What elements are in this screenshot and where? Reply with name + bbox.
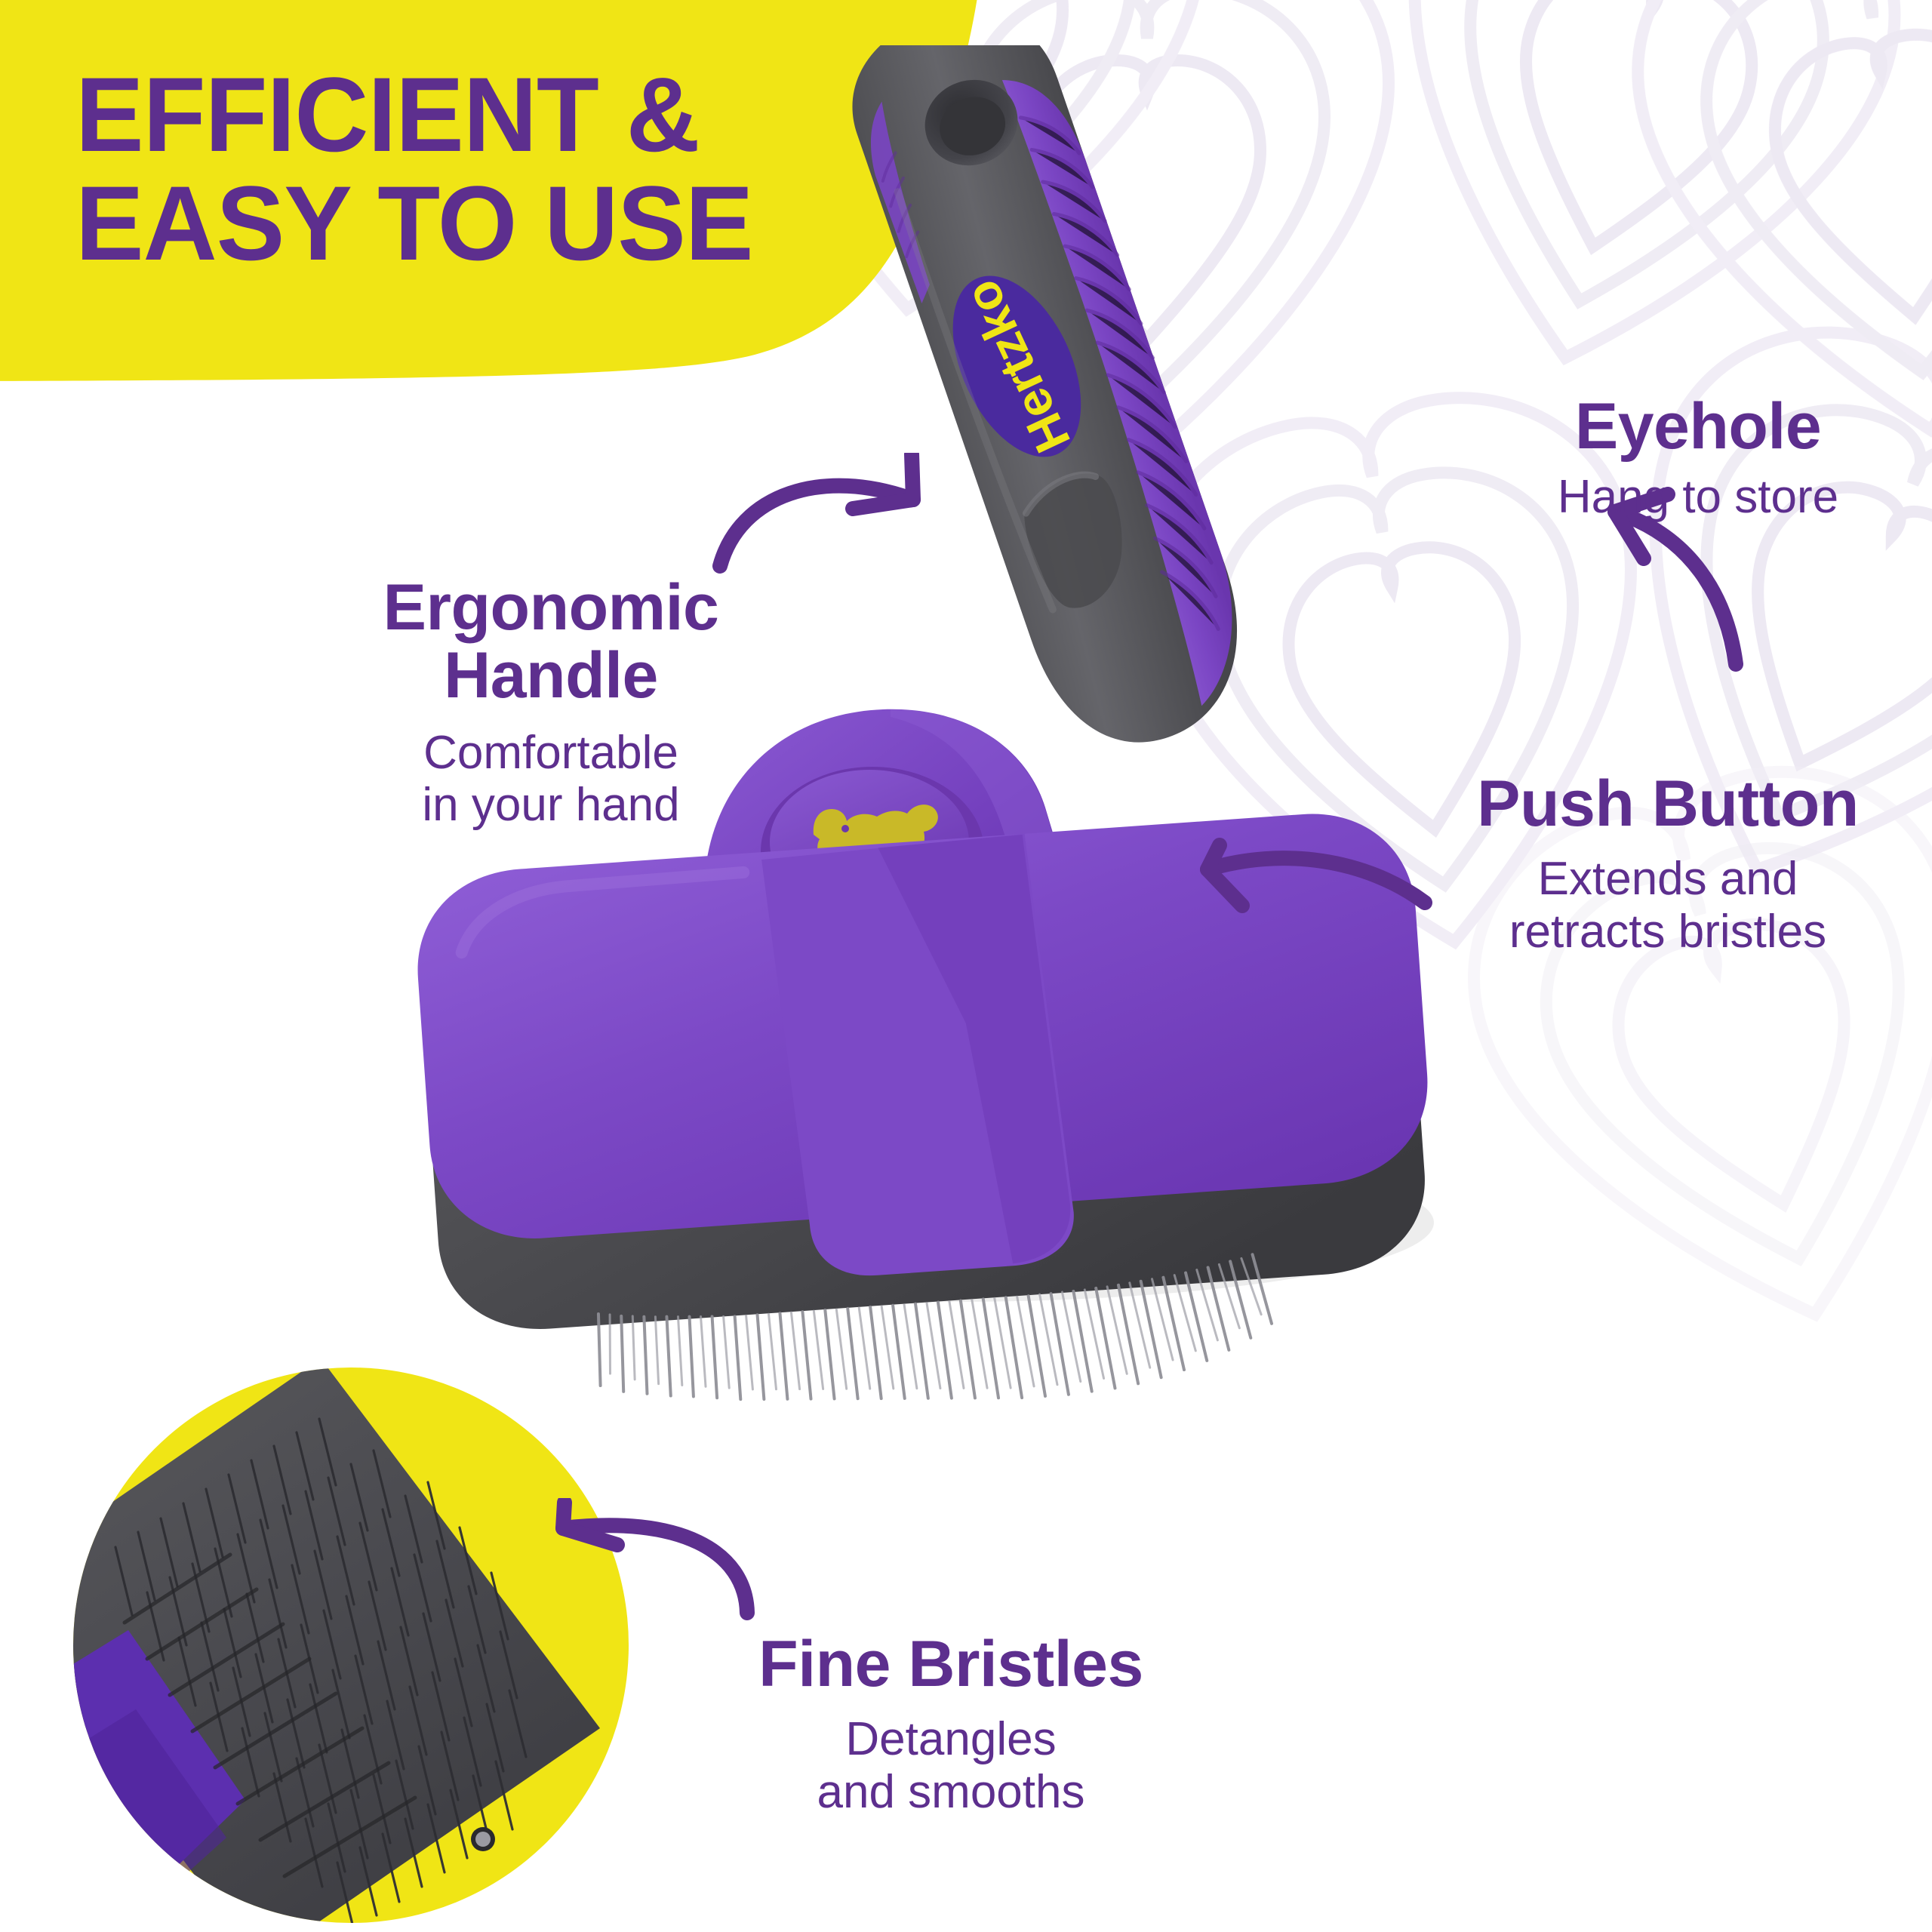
callout-eyehole-title: Eyehole [1472,392,1924,460]
callout-push-title: Push Button [1404,770,1932,838]
callout-push-subtitle: Extends and retracts bristles [1404,853,1932,958]
callout-fine-bristles: Fine Bristles Detangles and smooths [664,1630,1238,1818]
infographic-canvas: EFFICIENT & EASY TO USE [0,0,1932,1932]
callout-handle-subtitle: Comfortable in your hand [287,727,815,832]
callout-ergonomic-handle: Ergonomic Handle Comfortable in your han… [287,574,815,831]
callout-bristles-title: Fine Bristles [664,1630,1238,1698]
callout-handle-title: Ergonomic Handle [287,574,815,710]
callout-bristles-subtitle: Detangles and smooths [664,1713,1238,1818]
bristle-closeup-inset [72,1366,630,1924]
callout-push-button: Push Button Extends and retracts bristle… [1404,770,1932,958]
callout-eyehole: Eyehole Hang to store [1472,392,1924,524]
callout-eyehole-subtitle: Hang to store [1472,471,1924,523]
